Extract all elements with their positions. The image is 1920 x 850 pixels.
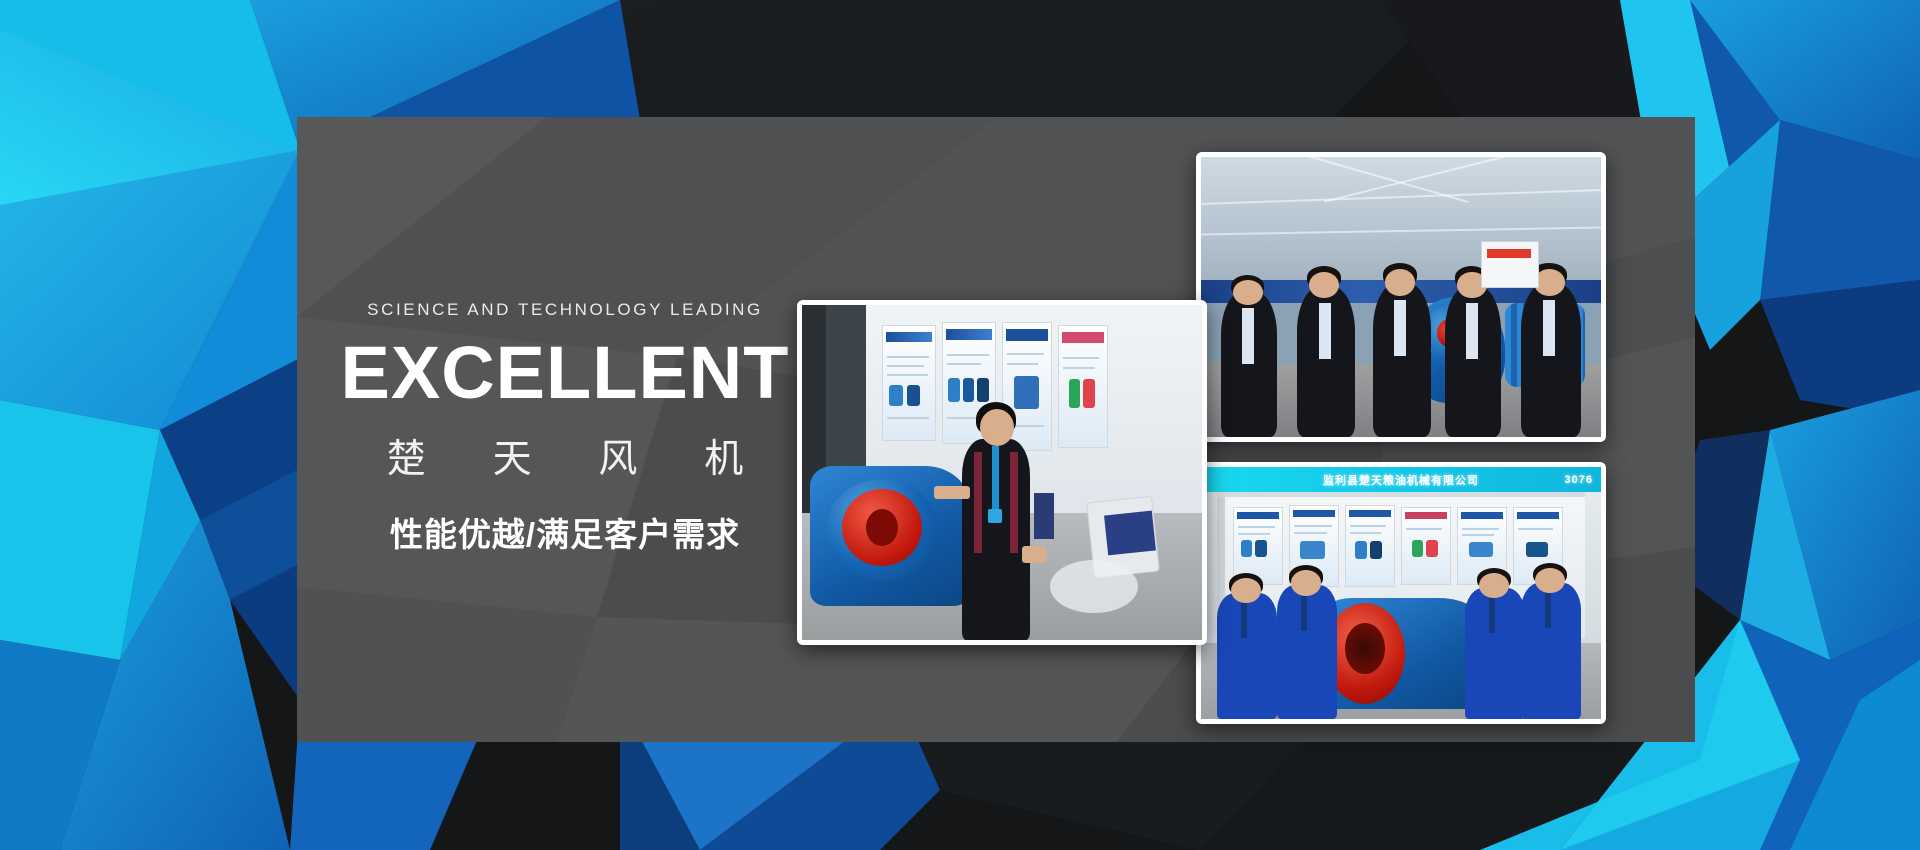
hero-headline: EXCELLENT [330, 334, 800, 412]
hero-brand-cn: 楚 天 风 机 [330, 428, 800, 484]
photo-top-right-image [1201, 157, 1601, 437]
photo-bottom-right-image: 监利县楚天粮油机械有限公司 3076 [1201, 467, 1601, 719]
hero-banner: SCIENCE AND TECHNOLOGY LEADING EXCELLENT… [0, 0, 1920, 850]
hero-text-block: SCIENCE AND TECHNOLOGY LEADING EXCELLENT… [330, 300, 800, 556]
photo-center-image [802, 305, 1202, 640]
photo-bottom-right[interactable]: 监利县楚天粮油机械有限公司 3076 [1196, 462, 1606, 724]
photo-center[interactable] [797, 300, 1207, 645]
hero-tagline-cn: 性能优越/满足客户需求 [330, 508, 800, 556]
hero-eyebrow: SCIENCE AND TECHNOLOGY LEADING [330, 300, 800, 320]
booth-banner: 监利县楚天粮油机械有限公司 3076 [1201, 467, 1601, 492]
photo-top-right[interactable] [1196, 152, 1606, 442]
booth-banner-text: 监利县楚天粮油机械有限公司 [1323, 472, 1479, 488]
booth-code: 3076 [1565, 474, 1593, 486]
